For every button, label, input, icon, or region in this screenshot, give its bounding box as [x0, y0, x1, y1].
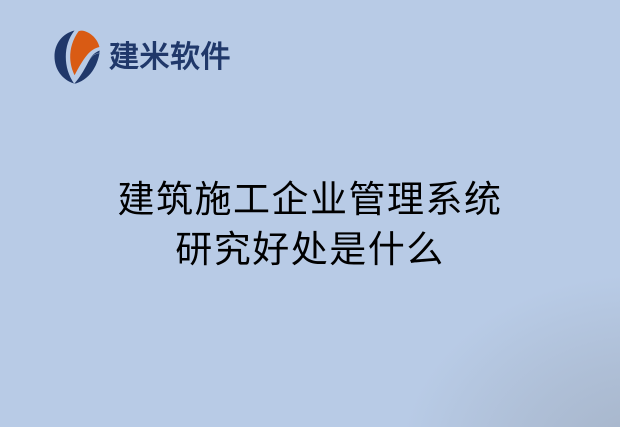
brand-logo: 建米软件	[54, 28, 231, 86]
brand-name: 建米软件	[109, 43, 231, 73]
page-title: 建筑施工企业管理系统 研究好处是什么	[0, 175, 620, 275]
jianmi-logo-icon	[54, 30, 100, 84]
page-title-line-1: 建筑施工企业管理系统	[0, 175, 620, 225]
slide-canvas: 建米软件 建筑施工企业管理系统 研究好处是什么	[0, 0, 620, 427]
page-title-line-2: 研究好处是什么	[0, 225, 620, 275]
